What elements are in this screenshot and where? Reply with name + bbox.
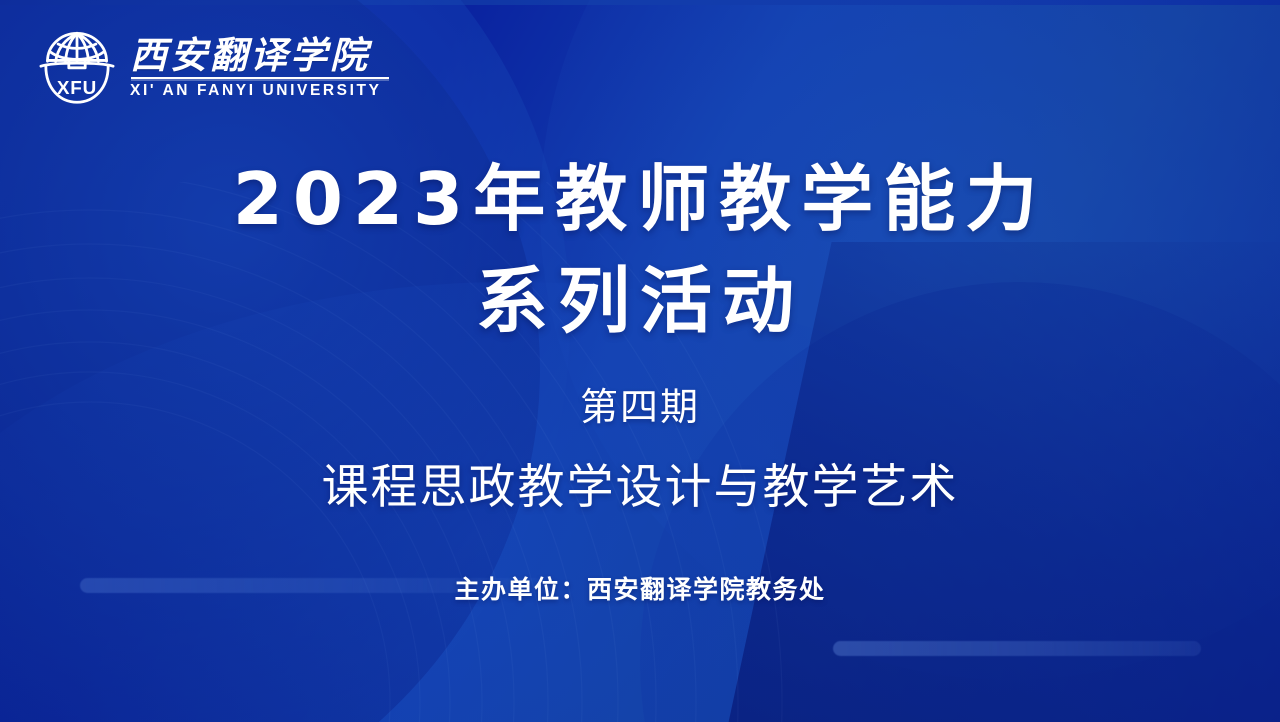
globe-xfu-emblem-icon: XFU	[36, 25, 118, 109]
topic-subtitle: 课程思政教学设计与教学艺术	[0, 448, 1280, 517]
session-label: 第四期	[0, 376, 1280, 431]
logo-divider-rule	[131, 77, 389, 79]
title-slide: XFU 西安翻译学院 XI' AN FANYI UNIVERSITY 2023年…	[0, 0, 1280, 722]
logo-english-name: XI' AN FANYI UNIVERSITY	[130, 82, 389, 100]
organizer-line: 主办单位：西安翻译学院教务处	[0, 570, 1280, 606]
headline-line-1: 2023年教师教学能力	[0, 148, 1280, 250]
logo-wordmark: 西安翻译学院 XI' AN FANYI UNIVERSITY	[130, 34, 389, 101]
accent-bar-right	[833, 641, 1201, 656]
university-logo: XFU 西安翻译学院 XI' AN FANYI UNIVERSITY	[36, 25, 389, 109]
logo-chinese-name: 西安翻译学院	[130, 36, 389, 75]
headline-line-2: 系列活动	[0, 250, 1280, 352]
svg-text:XFU: XFU	[57, 77, 97, 98]
main-headline: 2023年教师教学能力 系列活动	[0, 148, 1280, 352]
